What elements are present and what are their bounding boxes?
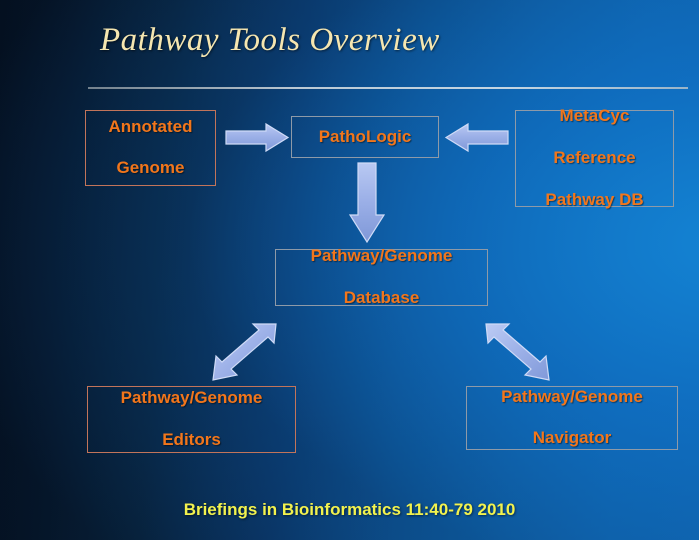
box-label-line: Editors xyxy=(88,430,295,451)
box-metacyc-reference-pathway-db[interactable]: MetaCyc Reference Pathway DB xyxy=(515,110,674,207)
arrow-pgdb-editors xyxy=(213,324,276,380)
box-pathway-genome-database[interactable]: Pathway/Genome Database xyxy=(275,249,488,306)
box-label-line: Reference xyxy=(516,148,673,169)
arrow-pathologic-to-pgdb xyxy=(350,163,384,242)
box-label-line: Pathway/Genome xyxy=(276,246,487,267)
box-label-line: PathoLogic xyxy=(292,127,438,148)
box-label-line: Pathway DB xyxy=(516,190,673,211)
box-pathway-genome-navigator[interactable]: Pathway/Genome Navigator xyxy=(466,386,678,450)
arrow-genome-to-pathologic xyxy=(226,124,288,151)
box-pathologic[interactable]: PathoLogic xyxy=(291,116,439,158)
arrow-pgdb-navigator xyxy=(486,324,549,380)
slide-canvas: Pathway Tools Overview xyxy=(0,0,699,540)
box-label-line: Pathway/Genome xyxy=(467,387,677,408)
arrow-metacyc-to-pathologic xyxy=(446,124,508,151)
box-label-line: Genome xyxy=(86,158,215,179)
box-annotated-genome[interactable]: Annotated Genome xyxy=(85,110,216,186)
box-label-line: Annotated xyxy=(86,117,215,138)
title-divider xyxy=(88,87,688,89)
box-label-line: Pathway/Genome xyxy=(88,388,295,409)
box-label-line: MetaCyc xyxy=(516,106,673,127)
citation-footer: Briefings in Bioinformatics 11:40-79 201… xyxy=(0,500,699,520)
box-label-line: Database xyxy=(276,288,487,309)
page-title: Pathway Tools Overview xyxy=(100,22,440,59)
box-label-line: Navigator xyxy=(467,428,677,449)
box-pathway-genome-editors[interactable]: Pathway/Genome Editors xyxy=(87,386,296,453)
slide-content: Pathway Tools Overview xyxy=(0,0,699,540)
